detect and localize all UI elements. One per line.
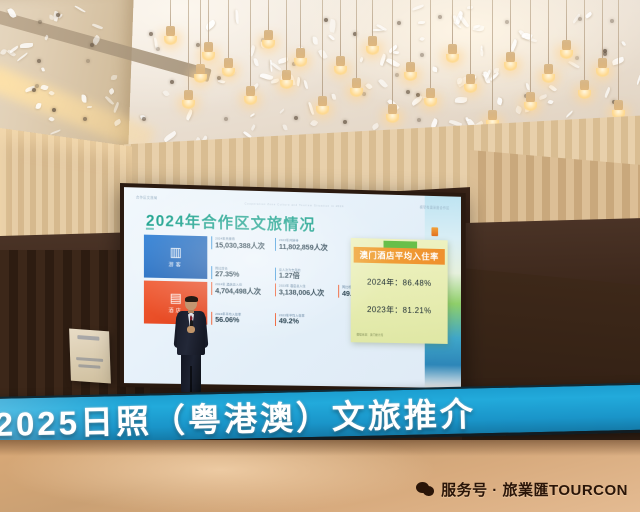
stat-cells-tourists: 2024年共接待 15,030,388人次 2023年共接待 11,802,85… [207, 236, 348, 282]
banner-title: 2025日照（粤港澳）文旅推介 [0, 387, 476, 445]
wechat-icon [416, 482, 435, 497]
stat-cell: 2023年共接待 11,802,859人次 [275, 238, 334, 252]
floor-shadow [0, 440, 640, 456]
stat-block-tourists: ▥ 游客 2024年共接待 15,030,388人次 2023年共接待 11,8… [144, 235, 348, 283]
stat-cell: 总人次为去年的 1.27倍 [275, 267, 334, 281]
presenter-hair [185, 296, 198, 302]
stat-cell: 2024年平均入住率 56.06% [211, 312, 271, 326]
slide-title: 2024年合作区文旅情况 [146, 209, 316, 235]
stat-cell-row: 同比增长 27.35% 总人次为去年的 1.27倍 [211, 266, 348, 282]
podium-text-line-1 [76, 357, 103, 362]
stat-cell-row: 2024年共接待 15,030,388人次 2023年共接待 11,802,85… [211, 236, 348, 252]
macau-occupancy-card: 澳门酒店平均入住率 2024年：86.48% 2023年：81.21% 数据来源… [351, 238, 448, 344]
slide-logo-right: 横琴粤澳深度合作区 [420, 204, 450, 210]
scenic-flag-icon [431, 227, 438, 236]
stat-value: 3,138,006人次 [279, 288, 334, 298]
stat-cell: 2024年共接待 15,030,388人次 [211, 236, 271, 251]
wall-dark-right [462, 268, 640, 467]
stat-tile-tourists: ▥ 游客 [144, 235, 207, 279]
stat-value: 49.2% [279, 318, 334, 327]
slide-title-underline [146, 228, 154, 230]
watermark: 服务号 · 旅業匯TOURCON [416, 479, 628, 500]
conference-hall-scene: 合作区文旅局 横琴粤澳深度合作区 Cooperation Zone Cultur… [0, 0, 640, 512]
card-heading: 澳门酒店平均入住率 [354, 247, 445, 265]
presenter [176, 296, 206, 392]
card-line-2024: 2024年：86.48% [351, 275, 448, 289]
stat-cell: 2023年平均入住率 49.2% [275, 313, 334, 327]
watermark-text: 服务号 · 旅業匯TOURCON [441, 479, 628, 500]
stat-cell: 2023年 酒店总入住 3,138,006人次 [275, 283, 334, 297]
stat-cell: 2024年 酒店总入住 4,704,498人次 [211, 282, 271, 296]
stat-value: 1.27倍 [279, 272, 334, 282]
projected-slide: 合作区文旅局 横琴粤澳深度合作区 Cooperation Zone Cultur… [124, 187, 461, 388]
stat-value: 4,704,498人次 [215, 287, 271, 297]
card-source-note: 数据来源：澳门统计局 [357, 332, 384, 336]
stat-value: 56.06% [215, 316, 271, 326]
podium-logo [77, 335, 99, 341]
stat-tile-label: 游客 [169, 261, 183, 268]
podium-text-line-2 [78, 364, 100, 369]
projection-screen-frame: 合作区文旅局 横琴粤澳深度合作区 Cooperation Zone Cultur… [120, 183, 466, 392]
stat-value: 15,030,388人次 [215, 241, 271, 251]
presenter-hand [187, 326, 195, 333]
presenter-leg-split [190, 366, 192, 392]
chart-icon: ▥ [170, 245, 182, 258]
card-line-2023: 2023年：81.21% [351, 303, 448, 317]
stat-cell: 同比增长 27.35% [211, 266, 271, 280]
stat-value: 27.35% [215, 271, 271, 281]
stat-value: 11,802,859人次 [279, 243, 334, 253]
slide-stat-blocks: ▥ 游客 2024年共接待 15,030,388人次 2023年共接待 11,8… [144, 235, 348, 331]
slide-top-note: Cooperation Zone Culture and Tourism Sit… [245, 201, 344, 208]
stat-block-hotels: ▤ 酒店 2024年 酒店总入住 4,704,498人次 2023年 酒店总入住… [144, 281, 348, 328]
slide-logo-left: 合作区文旅局 [136, 194, 157, 200]
podium-sign [69, 329, 111, 384]
